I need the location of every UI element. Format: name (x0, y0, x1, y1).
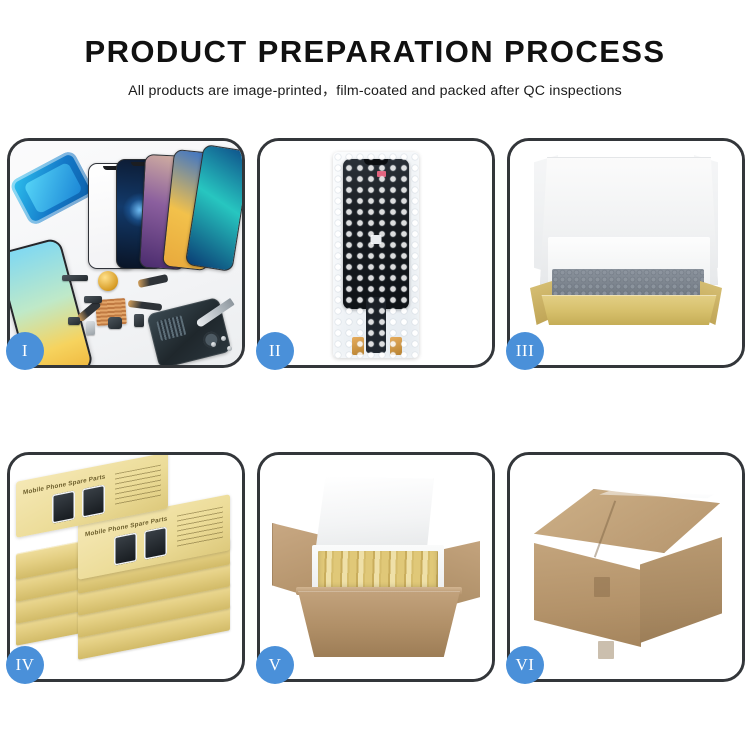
battery-icon (134, 314, 144, 327)
steps-grid: I II (7, 138, 743, 682)
carton-body-icon (298, 591, 460, 657)
box-art-screen-icon (144, 526, 167, 559)
carton-right-face-icon (640, 537, 722, 643)
display-flex-cable-icon (366, 297, 386, 353)
page-subtitle: All products are image-printed，film-coat… (0, 69, 750, 100)
step-card-2[interactable]: II (257, 138, 495, 368)
step-card-3[interactable]: III (507, 138, 745, 368)
gold-connector-icon (390, 337, 402, 355)
box-stack-group: Mobile Phone Spare Parts Mobile Phone Sp… (16, 473, 240, 669)
step-image-4: Mobile Phone Spare Parts Mobile Phone Sp… (10, 455, 242, 679)
box-front-panel-icon (536, 295, 722, 325)
box-spec-lines-icon (115, 465, 161, 506)
notch-icon (364, 159, 388, 165)
part-strip-icon (62, 275, 88, 281)
carton-tab-icon (598, 641, 614, 659)
step-badge-5: V (256, 646, 294, 684)
ic-chip-icon (371, 235, 382, 244)
step-image-2 (260, 141, 492, 365)
box-spec-lines-icon (177, 507, 223, 548)
screw-icon (211, 342, 216, 347)
step-image-1 (10, 141, 242, 365)
product-preparation-infographic: PRODUCT PREPARATION PROCESS All products… (0, 0, 750, 750)
flex-cable-icon (128, 300, 163, 311)
gold-connector-icon (352, 337, 364, 355)
lcd-screen-icon (343, 159, 409, 309)
step-card-5[interactable]: V (257, 452, 495, 682)
connector-icon (84, 296, 102, 303)
step-badge-6: VI (506, 646, 544, 684)
step-badge-3: III (506, 332, 544, 370)
phone-fan-group (82, 149, 242, 269)
label-sticker-icon (377, 171, 386, 177)
step-image-6 (510, 455, 742, 679)
camera-module-icon (108, 317, 122, 329)
packed-boxes-icon (318, 551, 438, 591)
foam-lid-icon (316, 477, 434, 549)
screw-icon (221, 336, 226, 341)
carton-left-face-icon (534, 543, 641, 647)
box-art-screen-icon (114, 532, 137, 565)
step-badge-1: I (6, 332, 44, 370)
step-badge-2: II (256, 332, 294, 370)
step-image-3 (510, 141, 742, 365)
flex-cable-icon (137, 274, 168, 288)
step-badge-4: IV (6, 646, 44, 684)
step-card-6[interactable]: VI (507, 452, 745, 682)
box-art-screen-icon (52, 490, 75, 523)
part-chip-icon (68, 317, 80, 325)
step-card-1[interactable]: I (7, 138, 245, 368)
sim-tray-icon (86, 321, 95, 335)
step-image-5 (260, 455, 492, 679)
step-card-4[interactable]: Mobile Phone Spare Parts Mobile Phone Sp… (7, 452, 245, 682)
carton-top-face-icon (534, 489, 720, 553)
page-title: PRODUCT PREPARATION PROCESS (0, 0, 750, 69)
header: PRODUCT PREPARATION PROCESS All products… (0, 0, 750, 100)
box-art-screen-icon (82, 484, 105, 517)
carton-tab-icon (594, 577, 610, 597)
screw-icon (227, 346, 232, 351)
speaker-coil-icon (98, 271, 118, 291)
